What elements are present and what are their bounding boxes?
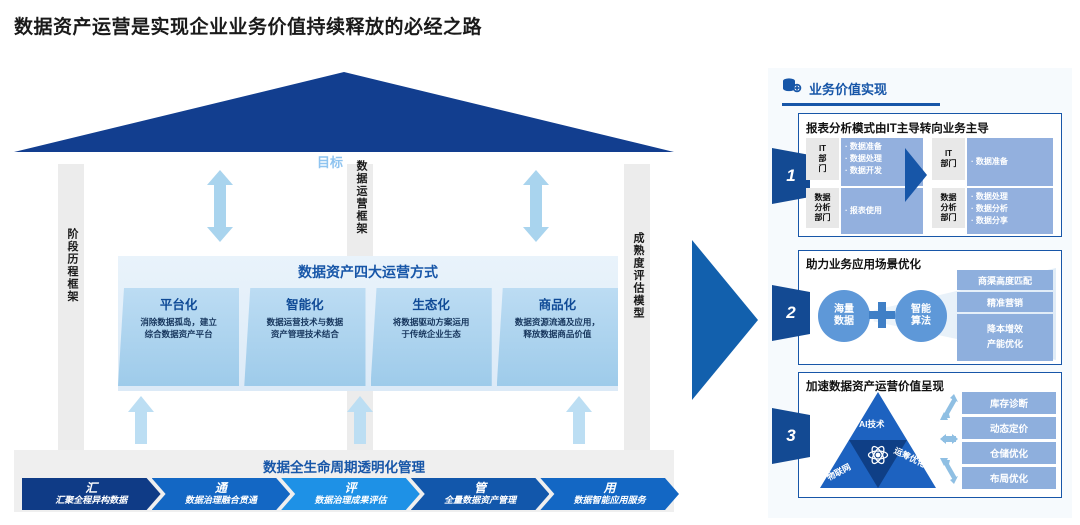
arrow-head: [566, 396, 592, 412]
lifecycle-step-heading: 评: [344, 482, 356, 495]
lifecycle-chevron-row: 汇 汇聚全程异构数据 通 数据治理融合贯通 评 数据治理成果评估 管 全量数据资…: [22, 478, 670, 510]
mode-card[interactable]: 生态化 将数据驱动方案运用 于传统企业生态: [371, 288, 492, 386]
lifecycle-step[interactable]: 汇 汇聚全程异构数据: [22, 478, 161, 510]
double-arrow-icon-right: [523, 170, 549, 242]
right-panel-header: 业务价值实现: [782, 76, 887, 100]
house-diagram: 目标 数据 数据资产 阶段历程框架 数据运营框架 成熟度评估模型 数据资产四大运…: [0, 60, 700, 525]
lifecycle-step-heading: 汇: [85, 482, 97, 495]
outcome-item: 布局优化: [962, 467, 1056, 489]
section-1-after-table: IT部门 数据准备 数据分析部门 数据处理 数据分析 数据分享: [932, 138, 1053, 234]
mode-card-body: 数据资源流通及应用， 释放数据商品价值: [501, 316, 614, 341]
table-row: IT部门 数据准备: [932, 138, 1053, 186]
dept-cell: 数据分析部门: [806, 188, 839, 228]
section-3-number: 3: [772, 408, 810, 464]
outcome-item: 精准营销: [957, 292, 1053, 312]
big-right-arrow-icon: [692, 240, 758, 400]
items-cell: 数据处理 数据分析 数据分享: [967, 188, 1053, 234]
mode-card-heading: 平台化: [122, 294, 235, 313]
dept-cell: IT部门: [806, 138, 839, 180]
mode-card-body: 消除数据孤岛，建立 综合数据资产平台: [122, 316, 235, 341]
section-2-number: 2: [772, 285, 810, 341]
arrow-shaft: [354, 411, 366, 444]
outcome-item: 库存诊断: [962, 392, 1056, 414]
lifecycle-step[interactable]: 用 数据智能应用服务: [540, 478, 679, 510]
right-panel-header-label: 业务价值实现: [809, 79, 887, 98]
section-2-input-bubble: 海量 数据: [818, 290, 870, 342]
plus-icon: [869, 302, 895, 328]
pillar-middle-label: 数据运营框架: [355, 160, 366, 235]
mode-card-body: 数据运营技术与数据 资产管理技术结合: [248, 316, 361, 341]
double-arrow-icon-left: [207, 170, 233, 242]
outcome-item: 动态定价: [962, 417, 1056, 439]
lifecycle-step-heading: 用: [604, 482, 616, 495]
house-roof: [14, 72, 674, 152]
double-arrow-icon: [940, 394, 958, 420]
pillar-left-label: 阶段历程框架: [66, 228, 77, 303]
lifecycle-step-body: 汇聚全程异构数据: [55, 495, 127, 506]
lifecycle-step[interactable]: 评 数据治理成果评估: [281, 478, 420, 510]
pillar-right-label: 成熟度评估模型: [632, 232, 643, 320]
mode-card[interactable]: 平台化 消除数据孤岛，建立 综合数据资产平台: [118, 288, 239, 386]
dept-cell: IT部门: [932, 138, 965, 180]
lifecycle-step-body: 数据治理融合贯通: [185, 495, 257, 506]
section-1-title: 报表分析模式由IT主导转向业务主导: [806, 120, 989, 136]
database-coins-icon: [782, 77, 802, 100]
lifecycle-step-body: 全量数据资产管理: [444, 495, 516, 506]
pyramid-top-label: AI技术: [859, 418, 885, 430]
page-title: 数据资产运营是实现企业业务价值持续释放的必经之路: [14, 12, 482, 39]
section-3-pyramid: AI技术 物联网 运筹优化模型: [820, 392, 936, 488]
section-3-outcomes: 库存诊断 动态定价 仓储优化 布局优化: [962, 392, 1056, 489]
outcome-item: 商渠高度匹配: [957, 270, 1053, 290]
outcome-item-group: 降本增效 产能优化: [957, 314, 1053, 361]
table-row: 数据分析部门 数据处理 数据分析 数据分享: [932, 188, 1053, 234]
double-arrow-icon: [940, 426, 958, 452]
section-2-input-bubble: 智能 算法: [895, 290, 947, 342]
mode-card[interactable]: 商品化 数据资源流通及应用， 释放数据商品价值: [497, 288, 618, 386]
arrow-head-down: [207, 227, 233, 242]
mode-card-heading: 生态化: [375, 294, 488, 313]
lifecycle-step[interactable]: 通 数据治理融合贯通: [152, 478, 291, 510]
up-arrow-icon-1: [128, 396, 154, 444]
atom-icon: [867, 444, 889, 466]
dept-cell: 数据分析部门: [932, 188, 965, 228]
modes-title: 数据资产四大运营方式: [118, 262, 618, 282]
arrow-shaft: [135, 411, 147, 444]
double-arrow-icon: [940, 458, 958, 484]
arrow-head-down: [523, 227, 549, 242]
arrow-head: [347, 396, 373, 412]
lifecycle-step-heading: 管: [474, 482, 486, 495]
arrow-shaft: [530, 184, 542, 228]
items-cell: 数据准备: [967, 138, 1053, 186]
section-1-number: 1: [772, 148, 810, 204]
up-arrow-icon-2: [347, 396, 373, 444]
outcome-item: 仓储优化: [962, 442, 1056, 464]
arrow-head-up: [523, 170, 549, 185]
mode-card-heading: 智能化: [248, 294, 361, 313]
arrow-head-up: [207, 170, 233, 185]
lifecycle-step-heading: 通: [215, 482, 227, 495]
up-arrow-icon-3: [566, 396, 592, 444]
mode-card-heading: 商品化: [501, 294, 614, 313]
section-2-title: 助力业务应用场景优化: [806, 256, 921, 272]
arrow-shaft: [573, 411, 585, 444]
lifecycle-step-body: 数据智能应用服务: [574, 495, 646, 506]
lifecycle-step[interactable]: 管 全量数据资产管理: [411, 478, 550, 510]
arrow-head: [128, 396, 154, 412]
mode-card-body: 将数据驱动方案运用 于传统企业生态: [375, 316, 488, 341]
arrow-shaft: [214, 184, 226, 228]
double-arrow-icon-group: [940, 392, 960, 488]
header-divider: [782, 103, 940, 106]
modes-card-row: 平台化 消除数据孤岛，建立 综合数据资产平台 智能化 数据运营技术与数据 资产管…: [118, 288, 618, 386]
section-2-outcomes: 商渠高度匹配 精准营销 降本增效 产能优化: [957, 270, 1053, 361]
lifecycle-step-body: 数据治理成果评估: [314, 495, 386, 506]
foundation-title: 数据全生命周期透明化管理: [14, 456, 674, 476]
mode-card[interactable]: 智能化 数据运营技术与数据 资产管理技术结合: [244, 288, 365, 386]
